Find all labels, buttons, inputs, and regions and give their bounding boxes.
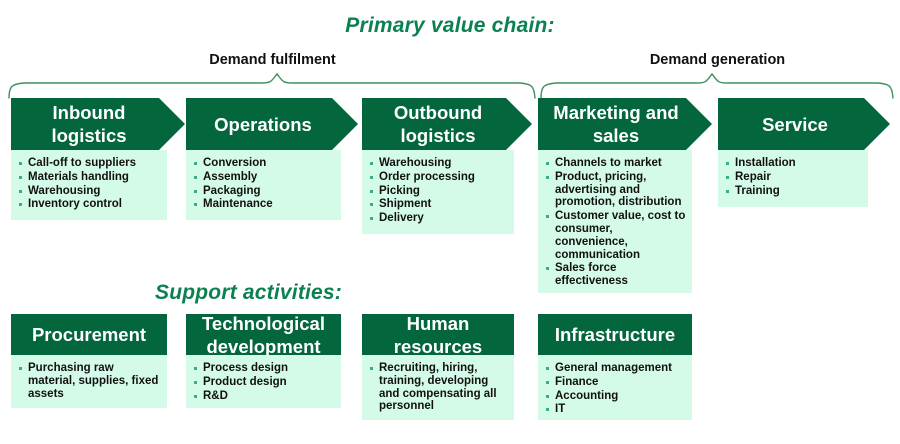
chevron-title-operations: Operations [186, 98, 358, 150]
list-item: Materials handling [17, 171, 161, 184]
list-item: Installation [724, 157, 862, 170]
list-item: Warehousing [17, 185, 161, 198]
list-item: Customer value, cost to consumer, conven… [544, 210, 686, 261]
support-title-line: Procurement [32, 324, 146, 345]
bullet-list: Call-off to suppliers Materials handling… [17, 157, 161, 211]
list-item: Shipment [368, 198, 508, 211]
chevron-title-line: Operations [214, 114, 312, 135]
list-item: Conversion [192, 157, 335, 170]
list-item: General management [544, 362, 686, 375]
support-title-line: Human [407, 313, 470, 334]
brace-label-demand-fulfilment: Demand fulfilment [0, 52, 545, 68]
support-activities-title: Support activities: [155, 281, 342, 305]
list-item: Maintenance [192, 198, 335, 211]
list-item: Order processing [368, 171, 508, 184]
support-title-line: Infrastructure [555, 324, 675, 345]
list-item: Channels to market [544, 157, 686, 170]
support-title-infrastructure: Infrastructure [538, 314, 692, 355]
chevron-title-line: Inbound [53, 102, 126, 123]
bullet-list: Conversion Assembly Packaging Maintenanc… [192, 157, 335, 211]
list-item: Call-off to suppliers [17, 157, 161, 170]
chevron-title-line: logistics [51, 125, 126, 146]
support-title-line: Technological [202, 313, 325, 334]
bullet-list: Installation Repair Training [724, 157, 862, 197]
list-item: Purchasing raw material, supplies, fixed… [17, 362, 161, 400]
chevron-title-line: logistics [400, 125, 475, 146]
list-item: Process design [192, 362, 335, 375]
support-body-human-resources: Recruiting, hiring, training, developing… [362, 355, 514, 420]
support-title-human-resources: Human resources [362, 314, 514, 355]
list-item: Recruiting, hiring, training, developing… [368, 362, 508, 413]
chevron-body-inbound-logistics: Call-off to suppliers Materials handling… [11, 150, 167, 220]
support-title-procurement: Procurement [11, 314, 167, 355]
chevron-body-service: Installation Repair Training [718, 150, 868, 207]
chevron-title-inbound-logistics: Inbound logistics [11, 98, 185, 150]
list-item: Training [724, 185, 862, 198]
list-item: Accounting [544, 390, 686, 403]
support-body-infrastructure: General management Finance Accounting IT [538, 355, 692, 420]
list-item: Warehousing [368, 157, 508, 170]
primary-value-chain-title: Primary value chain: [0, 14, 900, 38]
bullet-list: Warehousing Order processing Picking Shi… [368, 157, 508, 225]
support-title-line: resources [394, 336, 482, 357]
bullet-list: General management Finance Accounting IT [544, 362, 686, 416]
chevron-body-operations: Conversion Assembly Packaging Maintenanc… [186, 150, 341, 220]
bullet-list: Purchasing raw material, supplies, fixed… [17, 362, 161, 400]
chevron-title-line: Service [762, 114, 828, 135]
brace-curve-demand-generation [0, 70, 900, 100]
chevron-title-outbound-logistics: Outbound logistics [362, 98, 532, 150]
support-body-technological-development: Process design Product design R&D [186, 355, 341, 408]
list-item: Repair [724, 171, 862, 184]
list-item: Sales force effectiveness [544, 262, 686, 288]
list-item: Assembly [192, 171, 335, 184]
chevron-title-line: Marketing and [553, 102, 678, 123]
chevron-title-service: Service [718, 98, 890, 150]
bullet-list: Process design Product design R&D [192, 362, 335, 402]
list-item: Delivery [368, 212, 508, 225]
list-item: Inventory control [17, 198, 161, 211]
list-item: Product, pricing, advertising and promot… [544, 171, 686, 209]
chevron-body-outbound-logistics: Warehousing Order processing Picking Shi… [362, 150, 514, 234]
list-item: IT [544, 403, 686, 416]
chevron-title-line: Outbound [394, 102, 482, 123]
list-item: R&D [192, 390, 335, 403]
support-title-line: development [206, 336, 320, 357]
list-item: Packaging [192, 185, 335, 198]
brace-label-demand-generation: Demand generation [540, 52, 895, 68]
support-body-procurement: Purchasing raw material, supplies, fixed… [11, 355, 167, 408]
bullet-list: Recruiting, hiring, training, developing… [368, 362, 508, 413]
chevron-title-line: sales [593, 125, 639, 146]
chevron-title-marketing-and-sales: Marketing and sales [538, 98, 712, 150]
list-item: Picking [368, 185, 508, 198]
chevron-body-marketing-and-sales: Channels to market Product, pricing, adv… [538, 150, 692, 293]
bullet-list: Channels to market Product, pricing, adv… [544, 157, 686, 288]
list-item: Finance [544, 376, 686, 389]
support-title-technological-development: Technological development [186, 314, 341, 355]
list-item: Product design [192, 376, 335, 389]
value-chain-diagram: Primary value chain: Demand fulfilment D… [0, 0, 900, 444]
